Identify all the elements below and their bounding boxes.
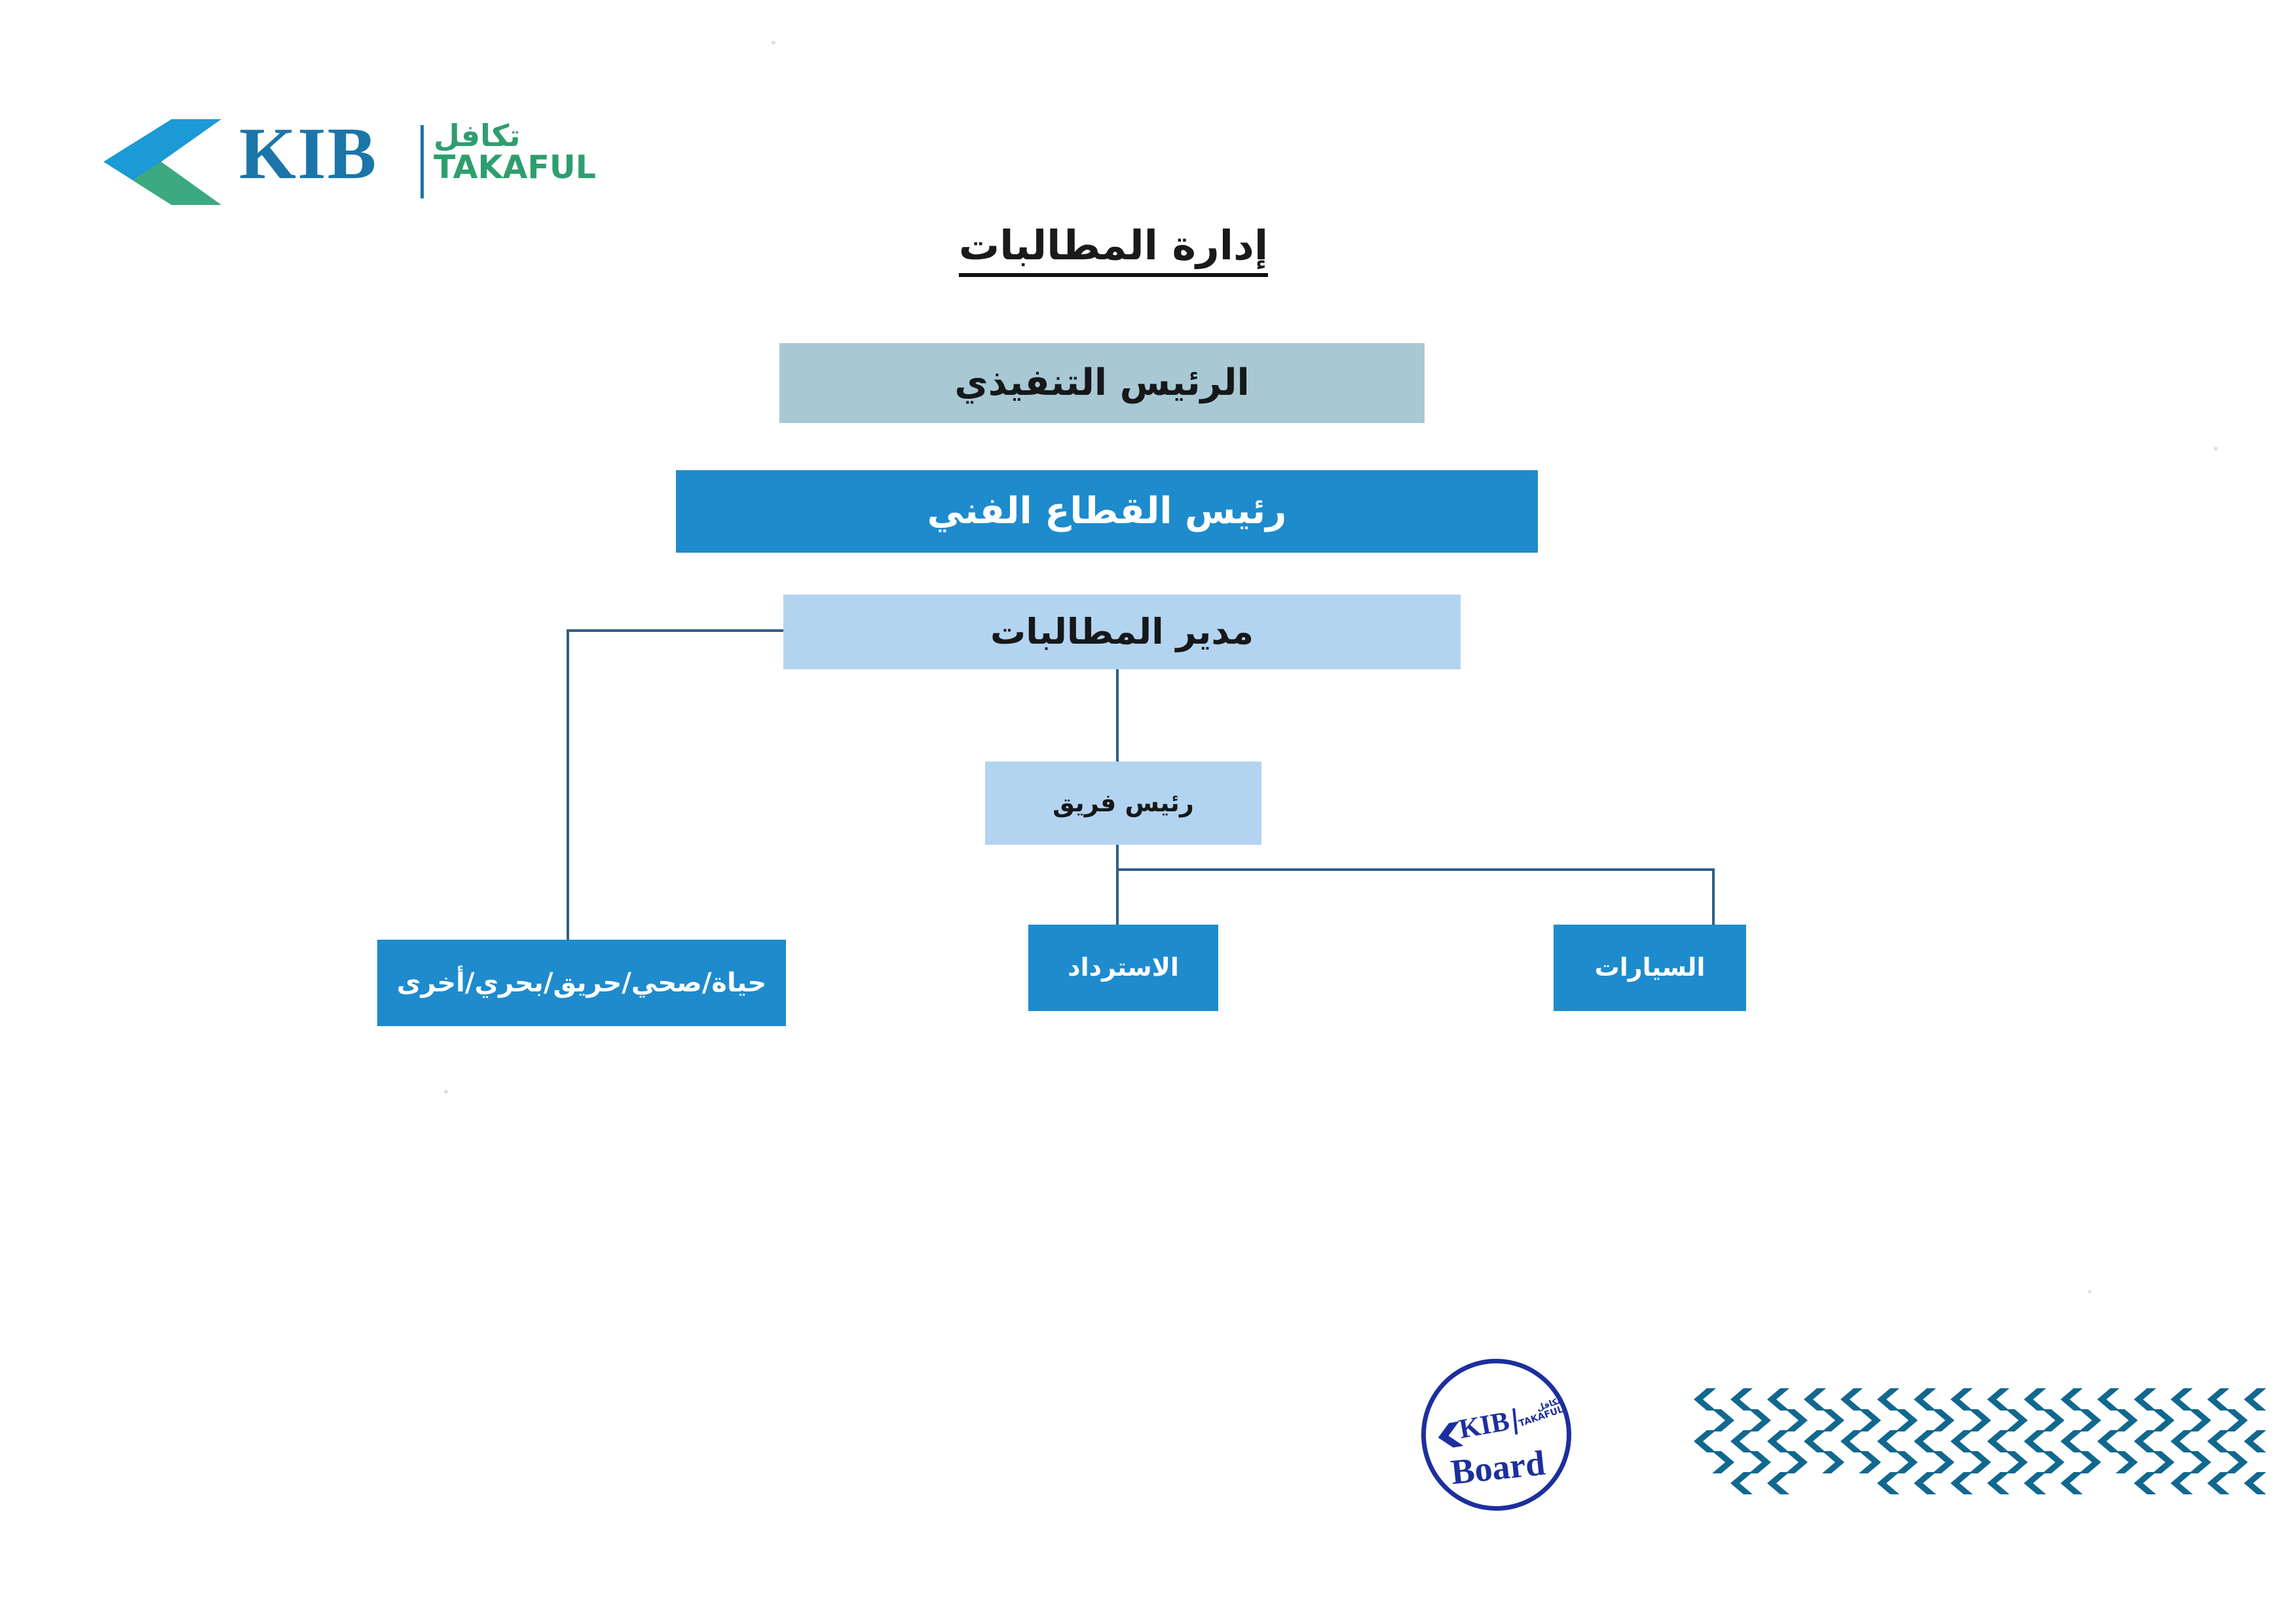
logo-subtext: تكافل TAKAFUL (434, 120, 591, 183)
board-approval-stamp: KIB تكافل TAKAFUL Board (1417, 1355, 1575, 1515)
connector-claims-to-lob-vertical (567, 629, 569, 942)
scan-speck (2214, 447, 2218, 451)
scan-speck (772, 41, 775, 45)
chevron-pattern-band (1690, 1369, 2266, 1519)
logo-sub-arabic: تكافل (434, 120, 591, 151)
page-title-text: إدارة المطالبات (959, 221, 1268, 277)
org-node-lines-of-business[interactable]: حياة/صحي/حريق/بحري/أخرى (377, 940, 786, 1026)
logo-divider (420, 125, 424, 198)
page-title: إدارة المطالبات (871, 221, 1356, 269)
connector-team-leader-stub (1116, 844, 1119, 870)
org-node-team-leader-label: رئيس فريق (1053, 789, 1194, 818)
logo-chevron-icon (98, 118, 229, 206)
logo-sub-english: TAKAFUL (434, 151, 591, 183)
connector-claims-to-lob-horizontal (567, 629, 785, 632)
org-node-head-technical[interactable]: رئيس القطاع الفني (676, 470, 1538, 553)
scan-speck (2088, 1290, 2091, 1293)
scan-speck (444, 1090, 448, 1094)
org-node-motor-label: السيارات (1595, 953, 1706, 982)
org-node-motor[interactable]: السيارات (1554, 925, 1746, 1011)
stamp-wordmark: KIB (1457, 1406, 1512, 1446)
org-node-claims-manager-label: مدير المطالبات (990, 612, 1254, 652)
connector-team-leader-bus (1116, 868, 1715, 871)
org-node-recovery[interactable]: الاسترداد (1028, 925, 1218, 1011)
org-node-claims-manager[interactable]: مدير المطالبات (783, 595, 1461, 669)
connector-claims-to-team-leader (1116, 669, 1119, 764)
stamp-subtext: تكافل TAKAFUL (1515, 1397, 1565, 1429)
connector-bus-to-recovery (1116, 868, 1119, 927)
org-node-head-technical-label: رئيس القطاع الفني (927, 490, 1287, 532)
connector-bus-to-motor (1712, 868, 1715, 927)
org-node-ceo[interactable]: الرئيس التنفيذي (779, 343, 1425, 423)
logo-wordmark: KIB (239, 108, 377, 200)
org-node-recovery-label: الاسترداد (1068, 953, 1179, 982)
kib-takaful-logo: KIB تكافل TAKAFUL (98, 115, 583, 206)
document-page: KIB تكافل TAKAFUL إدارة المطالبات الرئيس… (0, 0, 2295, 1624)
org-node-team-leader[interactable]: رئيس فريق (985, 762, 1261, 845)
org-node-ceo-label: الرئيس التنفيذي (954, 362, 1249, 404)
org-node-lines-of-business-label: حياة/صحي/حريق/بحري/أخرى (397, 968, 766, 998)
